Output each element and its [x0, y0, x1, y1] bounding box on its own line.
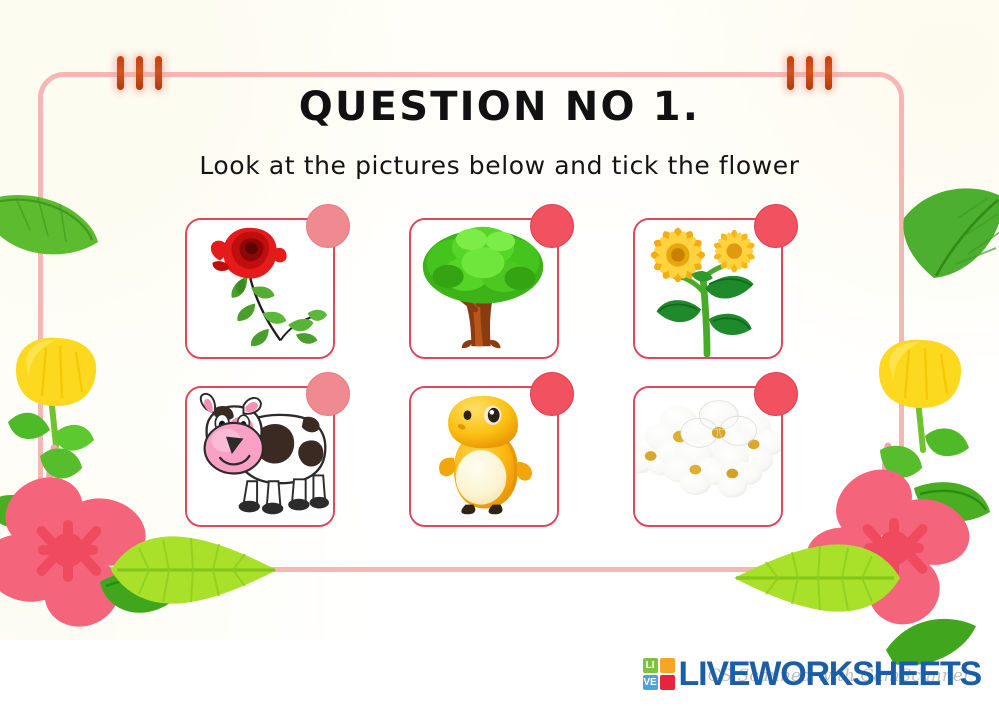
answer-marker-sunflower[interactable]	[754, 204, 798, 248]
worksheet-page: QUESTION NO 1. Look at the pictures belo…	[0, 0, 999, 706]
tally-marks-right	[787, 56, 832, 90]
tally-mark	[117, 56, 124, 90]
tally-marks-left	[117, 56, 162, 90]
tally-mark	[787, 56, 794, 90]
logo-tile-li: LI	[643, 658, 658, 673]
answer-card-tree[interactable]	[409, 218, 559, 359]
tally-mark	[155, 56, 162, 90]
page-title: QUESTION NO 1.	[0, 84, 999, 130]
logo-tile-red	[660, 675, 675, 690]
logo-tile-ve: VE	[643, 675, 658, 690]
tally-mark	[825, 56, 832, 90]
liveworksheets-logo-tiles: LI VE	[643, 658, 675, 690]
answer-marker-tree[interactable]	[530, 204, 574, 248]
liveworksheets-logo[interactable]: LI VE LIVEWORKSHEETS	[643, 654, 981, 694]
answer-card-rose[interactable]	[185, 218, 335, 359]
answer-marker-chick[interactable]	[530, 372, 574, 416]
liveworksheets-wordmark: LIVEWORKSHEETS	[679, 655, 981, 694]
answer-card-chick[interactable]	[409, 386, 559, 527]
answer-marker-rose[interactable]	[306, 204, 350, 248]
answer-card-cow[interactable]	[185, 386, 335, 527]
answer-marker-cow[interactable]	[306, 372, 350, 416]
leaf-top-right-decoration	[900, 178, 999, 298]
answer-card-orchid[interactable]	[633, 386, 783, 527]
answer-card-grid	[185, 218, 785, 527]
answer-marker-orchid[interactable]	[754, 372, 798, 416]
logo-tile-orange	[660, 658, 675, 673]
instruction-text: Look at the pictures below and tick the …	[0, 151, 999, 180]
tally-mark	[806, 56, 813, 90]
answer-card-sunflower[interactable]	[633, 218, 783, 359]
tally-mark	[136, 56, 143, 90]
